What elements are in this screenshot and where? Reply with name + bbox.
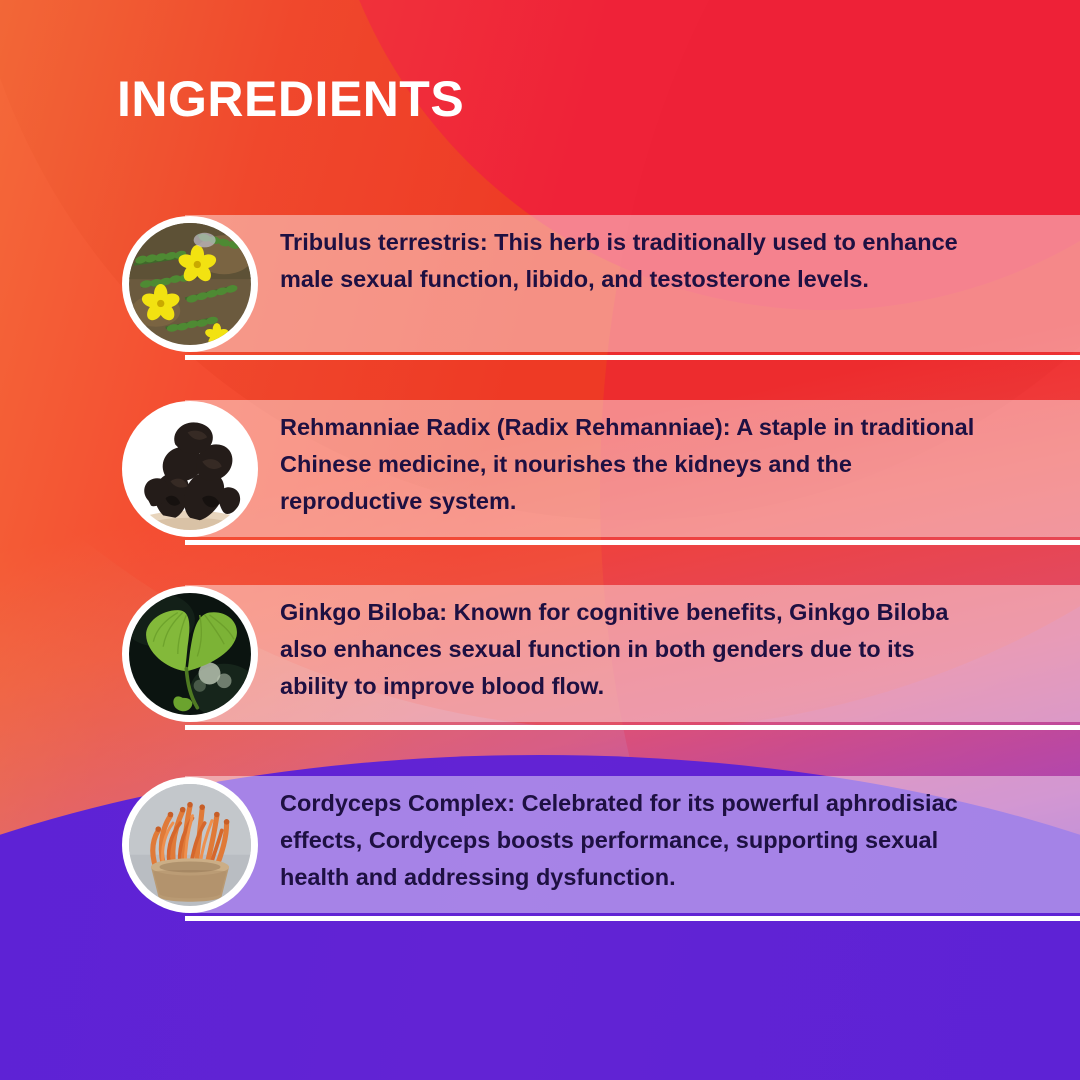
list-item: Rehmanniae Radix (Radix Rehmanniae): A s…	[0, 400, 1080, 537]
row-separator	[185, 540, 1080, 545]
row-separator	[185, 916, 1080, 921]
avatar	[122, 586, 258, 722]
list-item: Cordyceps Complex: Celebrated for its po…	[0, 776, 1080, 913]
ingredient-name: Ginkgo Biloba:	[280, 599, 447, 625]
ingredient-text: Tribulus terrestris: This herb is tradit…	[280, 224, 980, 298]
list-item: Ginkgo Biloba: Known for cognitive benef…	[0, 585, 1080, 722]
list-item: Tribulus terrestris: This herb is tradit…	[0, 215, 1080, 352]
ginkgo-biloba-leaf-photo-icon	[129, 593, 251, 715]
cordyceps-in-wooden-bowl-photo-icon	[129, 784, 251, 906]
ingredient-text: Rehmanniae Radix (Radix Rehmanniae): A s…	[280, 409, 980, 520]
tribulus-terrestris-plant-photo-icon	[129, 223, 251, 345]
ingredient-name: Cordyceps Complex:	[280, 790, 515, 816]
rehmanniae-radix-dried-root-photo-icon	[129, 408, 251, 530]
row-separator	[185, 725, 1080, 730]
ingredient-list: Tribulus terrestris: This herb is tradit…	[0, 0, 1080, 1080]
ingredient-name: Tribulus terrestris:	[280, 229, 488, 255]
row-separator	[185, 355, 1080, 360]
ingredient-text: Cordyceps Complex: Celebrated for its po…	[280, 785, 980, 896]
ingredient-name: Rehmanniae Radix (Radix Rehmanniae):	[280, 414, 731, 440]
ingredients-poster: INGREDIENTS	[0, 0, 1080, 1080]
avatar	[122, 216, 258, 352]
avatar	[122, 777, 258, 913]
avatar	[122, 401, 258, 537]
ingredient-text: Ginkgo Biloba: Known for cognitive benef…	[280, 594, 980, 705]
